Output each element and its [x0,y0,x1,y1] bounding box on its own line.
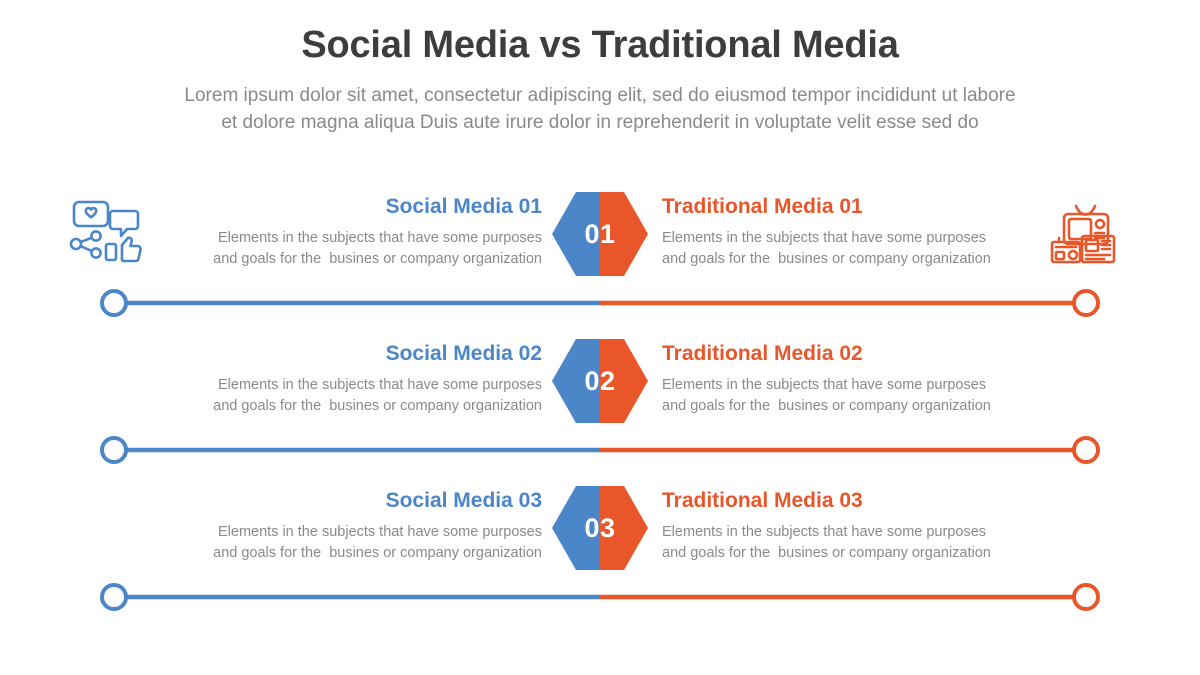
page-title: Social Media vs Traditional Media [0,24,1200,68]
right-description: Elements in the subjects that have some … [662,228,1052,270]
traditional-media-icon [1046,196,1126,268]
left-heading: Social Media 02 [152,341,542,366]
left-text-block: Social Media 03 Elements in the subjects… [152,488,542,564]
right-heading: Traditional Media 01 [662,194,1052,219]
left-desc-line-2: and goals for the busines or company org… [152,543,542,564]
step-number-badge[interactable]: 02 [552,335,648,427]
header: Social Media vs Traditional Media Lorem … [0,24,1200,137]
left-desc-line-1: Elements in the subjects that have some … [152,375,542,396]
infographic-canvas: Social Media vs Traditional Media Lorem … [0,0,1200,675]
right-heading: Traditional Media 02 [662,341,1052,366]
row-connector [0,435,1200,465]
right-text-block: Traditional Media 01 Elements in the sub… [662,194,1052,270]
right-heading: Traditional Media 03 [662,488,1052,513]
subtitle-line-2: et dolore magna aliqua Duis aute irure d… [40,109,1160,137]
left-desc-line-2: and goals for the busines or company org… [152,249,542,270]
right-text-block: Traditional Media 03 Elements in the sub… [662,488,1052,564]
left-description: Elements in the subjects that have some … [152,375,542,417]
right-desc-line-2: and goals for the busines or company org… [662,249,1052,270]
right-desc-line-1: Elements in the subjects that have some … [662,375,1052,396]
left-description: Elements in the subjects that have some … [152,228,542,270]
left-description: Elements in the subjects that have some … [152,522,542,564]
right-desc-line-2: and goals for the busines or company org… [662,396,1052,417]
right-description: Elements in the subjects that have some … [662,522,1052,564]
page-subtitle: Lorem ipsum dolor sit amet, consectetur … [0,82,1200,137]
right-text-block: Traditional Media 02 Elements in the sub… [662,341,1052,417]
step-number-label: 01 [552,188,648,280]
step-number-badge[interactable]: 03 [552,482,648,574]
right-desc-line-1: Elements in the subjects that have some … [662,228,1052,249]
left-heading: Social Media 01 [152,194,542,219]
row-connector [0,582,1200,612]
left-text-block: Social Media 01 Elements in the subjects… [152,194,542,270]
comparison-row: Social Media 03 Elements in the subjects… [0,474,1200,594]
step-number-label: 02 [552,335,648,427]
comparison-row: Social Media 01 Elements in the subjects… [0,180,1200,300]
left-desc-line-1: Elements in the subjects that have some … [152,522,542,543]
left-heading: Social Media 03 [152,488,542,513]
subtitle-line-1: Lorem ipsum dolor sit amet, consectetur … [40,82,1160,110]
left-desc-line-2: and goals for the busines or company org… [152,396,542,417]
comparison-row: Social Media 02 Elements in the subjects… [0,327,1200,447]
left-text-block: Social Media 02 Elements in the subjects… [152,341,542,417]
row-connector [0,288,1200,318]
step-number-label: 03 [552,482,648,574]
right-desc-line-1: Elements in the subjects that have some … [662,522,1052,543]
right-desc-line-2: and goals for the busines or company org… [662,543,1052,564]
step-number-badge[interactable]: 01 [552,188,648,280]
left-desc-line-1: Elements in the subjects that have some … [152,228,542,249]
social-media-icon [66,196,146,268]
right-description: Elements in the subjects that have some … [662,375,1052,417]
